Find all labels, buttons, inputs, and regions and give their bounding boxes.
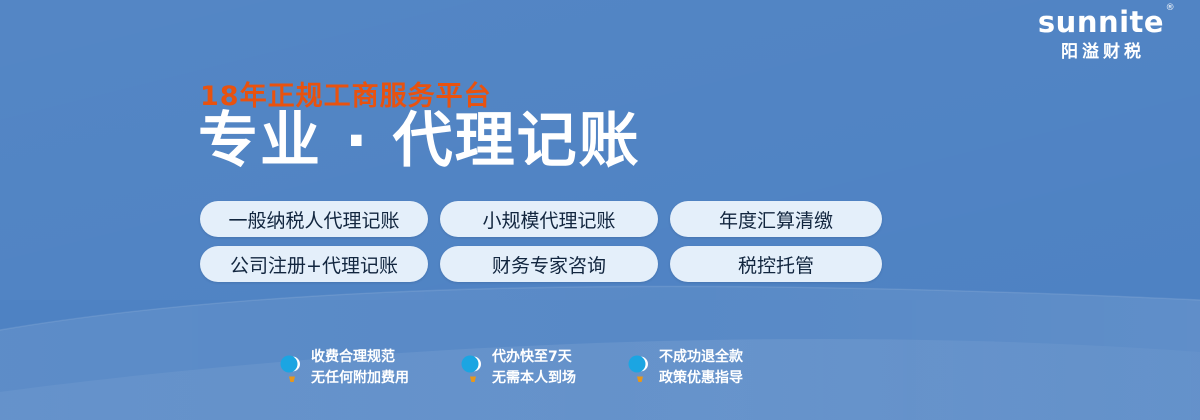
service-pill-company-registration-bookkeeping[interactable]: 公司注册+代理记账: [200, 246, 428, 282]
service-pill-general-taxpayer-bookkeeping[interactable]: 一般纳税人代理记账: [200, 201, 428, 237]
feature-line-2: 无需本人到场: [492, 370, 576, 388]
feature-item-speed: 代办快至7天 无需本人到场: [457, 349, 576, 387]
service-pill-row: 一般纳税人代理记账 小规模代理记账 年度汇算清缴: [200, 201, 882, 237]
feature-item-guarantee: 不成功退全款 政策优惠指导: [624, 349, 743, 387]
promo-banner: sunnite ® 阳溢财税 18年正规工商服务平台 专业 · 代理记账 一般纳…: [0, 0, 1200, 420]
registered-trademark-icon: ®: [1166, 4, 1176, 13]
badge-circle-icon: [457, 353, 483, 383]
feature-line-2: 无任何附加费用: [311, 370, 409, 388]
feature-text: 代办快至7天 无需本人到场: [492, 349, 576, 387]
feature-line-1: 代办快至7天: [492, 349, 576, 367]
feature-text: 收费合理规范 无任何附加费用: [311, 349, 409, 387]
service-pill-grid: 一般纳税人代理记账 小规模代理记账 年度汇算清缴 公司注册+代理记账 财务专家咨…: [200, 201, 882, 282]
logo-wordmark-text: sunnite: [1038, 5, 1164, 39]
feature-line-1: 不成功退全款: [659, 349, 743, 367]
service-pill-small-scale-bookkeeping[interactable]: 小规模代理记账: [440, 201, 658, 237]
badge-circle-icon: [276, 353, 302, 383]
logo-wordmark: sunnite ®: [1038, 8, 1164, 37]
feature-text: 不成功退全款 政策优惠指导: [659, 349, 743, 387]
banner-title: 专业 · 代理记账: [198, 108, 641, 174]
feature-line-1: 收费合理规范: [311, 349, 409, 367]
badge-circle-icon: [624, 353, 650, 383]
service-pill-row: 公司注册+代理记账 财务专家咨询 税控托管: [200, 246, 882, 282]
service-pill-finance-expert-consulting[interactable]: 财务专家咨询: [440, 246, 658, 282]
service-pill-tax-control-hosting[interactable]: 税控托管: [670, 246, 882, 282]
feature-strip: 收费合理规范 无任何附加费用 代办快至7天 无需本人到场: [276, 349, 743, 387]
brand-logo[interactable]: sunnite ® 阳溢财税: [1026, 8, 1176, 60]
logo-chinese-name: 阳溢财税: [1026, 43, 1176, 60]
service-pill-annual-settlement[interactable]: 年度汇算清缴: [670, 201, 882, 237]
feature-line-2: 政策优惠指导: [659, 370, 743, 388]
feature-item-pricing: 收费合理规范 无任何附加费用: [276, 349, 409, 387]
